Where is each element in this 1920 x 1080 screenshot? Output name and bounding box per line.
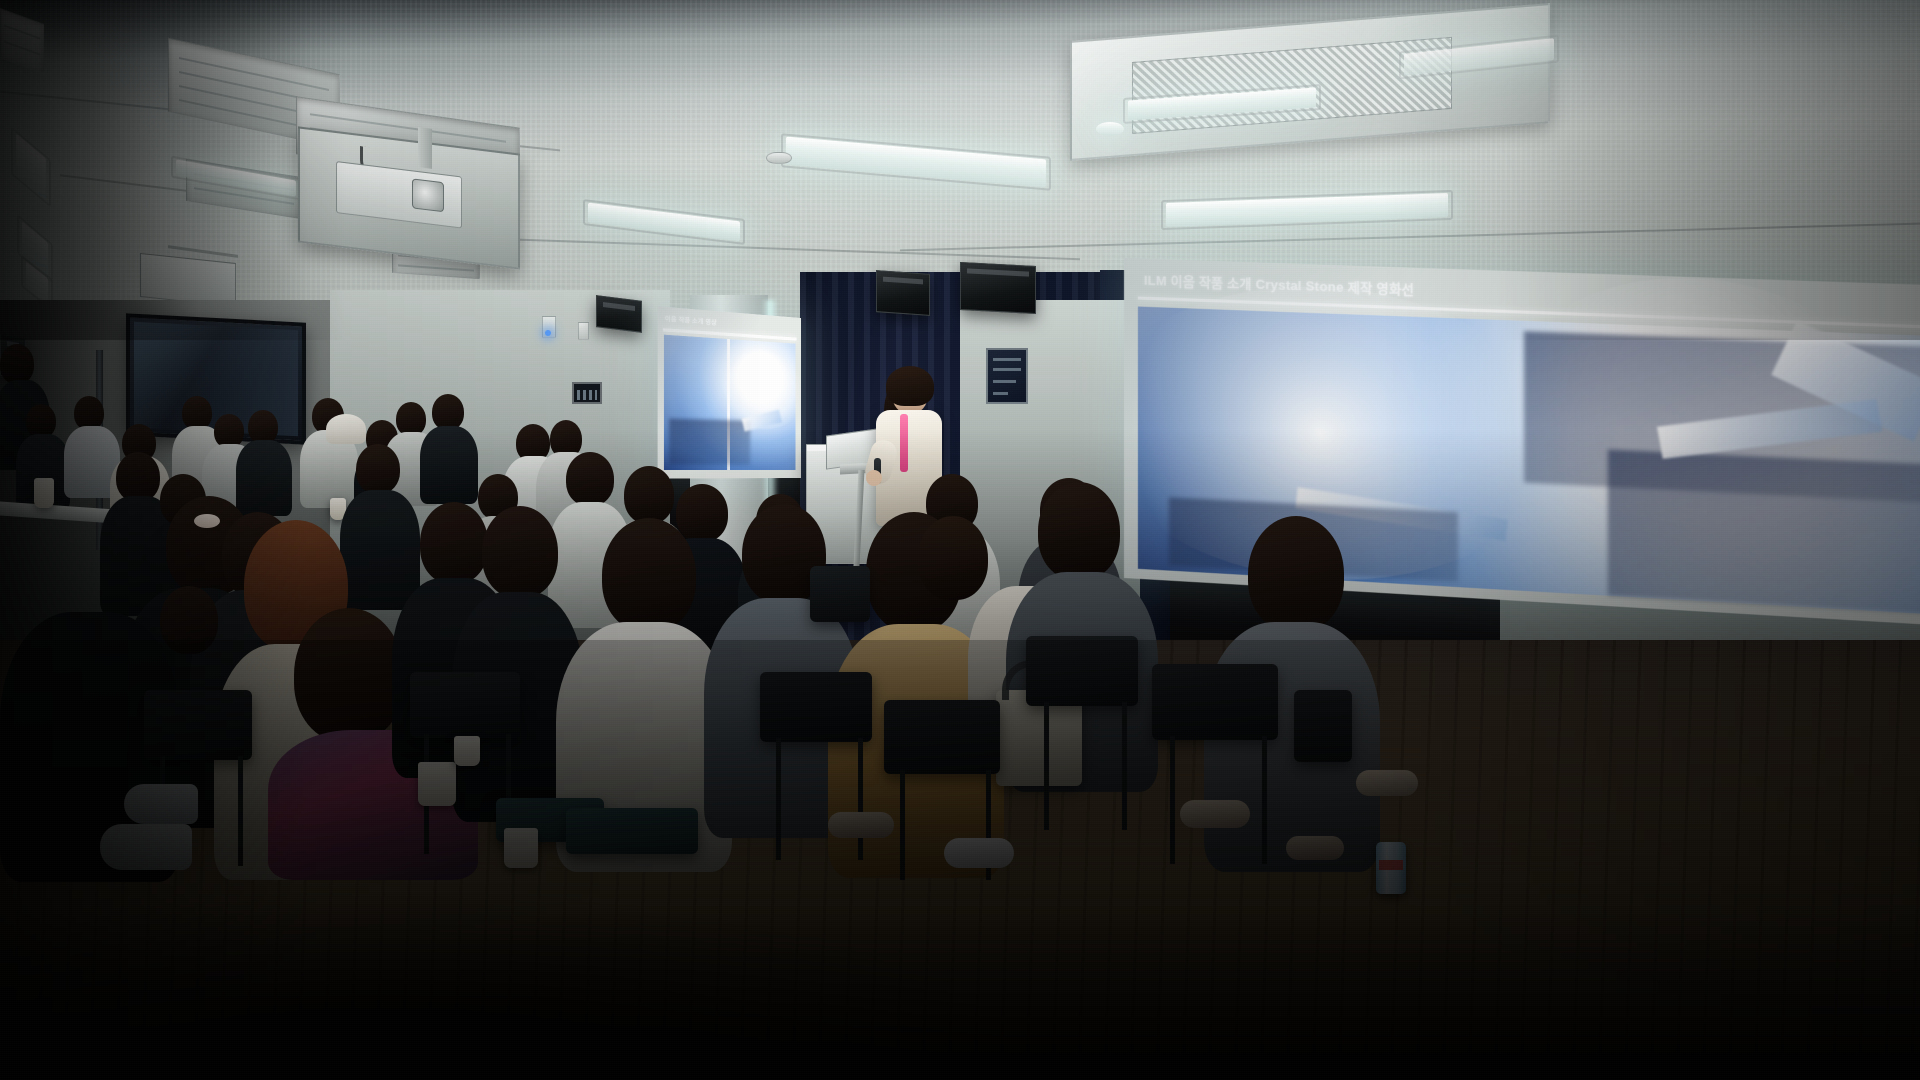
audience-head	[420, 502, 488, 584]
audience-head	[214, 414, 244, 448]
slide-image	[664, 335, 796, 470]
chair[interactable]	[566, 808, 698, 854]
presenter-hair	[886, 366, 934, 406]
audience-head	[326, 414, 366, 444]
paper-cup[interactable]	[454, 736, 480, 766]
audience-head	[26, 404, 56, 438]
audience-head	[396, 402, 426, 436]
slide-shadow	[670, 419, 751, 465]
chair[interactable]	[144, 690, 252, 760]
audience-body	[236, 440, 292, 516]
audience-head	[116, 452, 160, 502]
chair-leg	[900, 770, 905, 880]
chair-leg	[1122, 702, 1127, 830]
light-switch[interactable]	[578, 322, 589, 340]
audience-head	[356, 444, 400, 494]
slide-shadow	[1608, 449, 1920, 617]
audience-head	[182, 396, 212, 430]
audience-head	[432, 394, 464, 430]
presenter-lanyard	[900, 414, 908, 472]
chair[interactable]	[1152, 664, 1278, 740]
projector-lens-icon	[412, 178, 444, 212]
audience-head	[1038, 482, 1120, 580]
audience-head	[74, 396, 104, 430]
audience-head	[918, 516, 988, 600]
chair[interactable]	[810, 566, 870, 622]
audience-head	[676, 484, 728, 542]
status-led-icon	[545, 330, 551, 336]
wall-control-panel[interactable]	[572, 382, 602, 404]
paper-cup[interactable]	[34, 478, 54, 508]
chair-leg	[1262, 736, 1267, 864]
secondary-projection-screen: 이음 작품 소개 영상	[658, 306, 801, 478]
ceiling-speaker	[960, 262, 1036, 314]
audience-head	[248, 410, 278, 444]
chair[interactable]	[1294, 690, 1352, 762]
audience-head	[294, 608, 404, 742]
audience-head	[0, 344, 34, 384]
audience-head	[1248, 516, 1344, 632]
sandal	[828, 812, 894, 838]
presenter-hand	[866, 470, 882, 486]
audience-head	[482, 506, 558, 598]
chair-leg	[776, 738, 781, 860]
hair-clip-icon	[194, 514, 220, 528]
chair[interactable]	[760, 672, 872, 742]
audience-head	[602, 518, 696, 632]
audience-body	[420, 426, 478, 504]
audience-body	[340, 490, 420, 610]
audience-body	[1204, 622, 1380, 872]
audience-head	[160, 586, 218, 654]
sandal	[1356, 770, 1418, 796]
chair-leg	[1044, 702, 1049, 830]
ceiling-speaker	[876, 270, 930, 316]
chair[interactable]	[410, 672, 520, 738]
audience-head	[624, 466, 674, 524]
chair-leg	[238, 756, 243, 866]
paper-cup[interactable]	[504, 828, 538, 868]
shoe	[100, 824, 192, 870]
chair-leg	[1170, 736, 1175, 864]
paper-cup[interactable]	[418, 762, 456, 806]
shoe	[944, 838, 1014, 868]
sandal	[1180, 800, 1250, 828]
chair[interactable]	[884, 700, 1000, 774]
wall-poster	[986, 348, 1028, 404]
chair[interactable]	[1026, 636, 1138, 706]
lecture-hall-photo: 이음 작품 소개 영상 ILM 이음 작품 소개 Crystal Stone 제…	[0, 0, 1920, 1080]
ceiling-speaker	[596, 295, 642, 333]
sandal	[1286, 836, 1344, 860]
ceiling-downlight	[1096, 122, 1124, 136]
beverage-can[interactable]	[1376, 842, 1406, 894]
chair-leg	[858, 738, 863, 860]
projector-mount	[418, 127, 432, 169]
main-projection-screen: ILM 이음 작품 소개 Crystal Stone 제작 영화선	[1124, 258, 1920, 627]
smoke-detector-icon	[766, 152, 792, 164]
shoe	[124, 784, 198, 824]
audience-head	[566, 452, 614, 506]
